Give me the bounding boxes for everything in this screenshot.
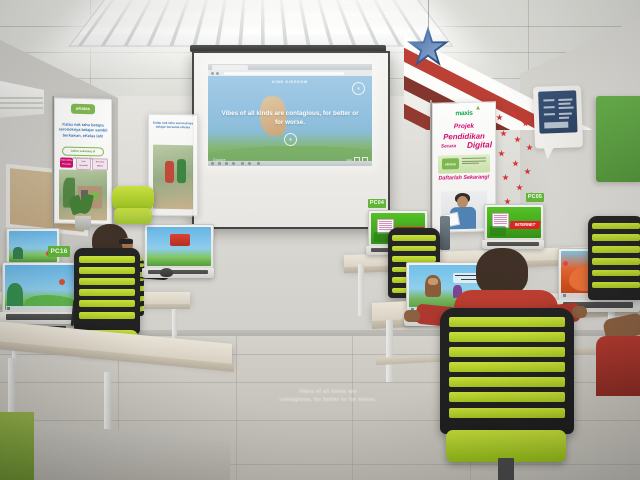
banner-chip-1: Kelas Online Percuma <box>60 157 73 167</box>
laptop-screen <box>5 265 75 310</box>
ekelas-logo: eKelas <box>71 104 95 115</box>
potted-plant <box>68 196 98 230</box>
chair-backrest <box>74 248 140 334</box>
projected-browser-window: KIND KINGDOM Vibes of all kinds are cont… <box>208 64 372 166</box>
chair-post <box>498 458 514 480</box>
laptop-screen: INTERNET <box>487 207 541 238</box>
chair-lime-left[interactable] <box>112 186 156 246</box>
maxis-cta: Daftarlah Sekarang! <box>436 174 492 181</box>
green-floor-mat <box>0 412 34 480</box>
desk-leg <box>104 372 111 438</box>
banner-headline: Kalau nak tahu betapa seronoknya belajar… <box>58 121 108 138</box>
site-title: KIND KINGDOM <box>208 80 372 84</box>
floor-reflection-line-2: contagious, for better or for worse. <box>238 396 418 404</box>
mouse[interactable] <box>160 268 173 277</box>
student-head <box>476 248 528 296</box>
projection-floor-reflection: Vibes of all kinds are contagious, for b… <box>238 388 418 422</box>
student-far-right <box>596 316 640 396</box>
pc-label-pc04: PC04 <box>368 199 386 208</box>
laptop-pc16[interactable]: PC16 <box>0 262 78 328</box>
chair-seat <box>112 186 154 210</box>
pause-icon[interactable]: ⏸ <box>352 82 365 95</box>
chair-far-right[interactable] <box>588 216 640 322</box>
maxis-box-note <box>462 157 486 165</box>
fluorescent-light-panel <box>68 0 453 47</box>
internet-badge: INTERNET <box>509 221 540 229</box>
floor-reflection-line-1: Vibes of all kinds are <box>238 388 418 396</box>
maxis-program-box: eKelas <box>438 154 490 173</box>
banner-secondary-headline: Kalau nak tahu seronoknya belajar bersam… <box>152 121 194 131</box>
os-taskbar[interactable] <box>208 161 372 166</box>
desk-leg <box>358 264 364 316</box>
blue-paper-star-ornament <box>406 26 450 70</box>
banner-chip-3: Bersama Rakan <box>92 158 108 170</box>
chair-right-front[interactable] <box>440 308 586 480</box>
kind-kingdom-page: KIND KINGDOM Vibes of all kinds are cont… <box>208 76 372 166</box>
ekelas-badge: eKelas <box>442 158 459 169</box>
projected-headline: Vibes of all kinds are contagious, for b… <box>220 109 360 127</box>
chair-backrest <box>440 308 574 434</box>
laptop-screen <box>147 227 211 266</box>
student-torso <box>596 336 640 396</box>
desk-leg <box>8 358 15 416</box>
ornament-string <box>428 0 429 28</box>
desk-leg <box>386 320 393 382</box>
chair-backrest <box>588 216 640 300</box>
laptop-pc05[interactable]: INTERNET PC05 <box>482 204 544 252</box>
maxis-mark <box>476 106 480 110</box>
play-icon[interactable]: ⏸ <box>284 133 297 146</box>
pc-label-pc05: PC05 <box>526 193 544 202</box>
green-wall-board <box>596 96 640 182</box>
banner-cta: Daftar sekarang di ekelas.com.my <box>62 146 104 156</box>
pc-label-pc16: PC16 <box>48 246 70 257</box>
maxis-line-1: Projek <box>436 122 492 130</box>
student-hand-left <box>404 310 420 322</box>
banner-chip-2: Sesi Interaktif <box>76 158 91 170</box>
maxis-line-4: Digital <box>436 140 497 150</box>
speech-bubble-poster <box>533 85 583 149</box>
maxis-logo: maxis <box>455 110 472 117</box>
projector-screen: KIND KINGDOM Vibes of all kinds are cont… <box>192 51 390 229</box>
classroom-photo: KIND KINGDOM Vibes of all kinds are cont… <box>0 0 640 480</box>
red-device <box>170 234 190 246</box>
chair-cushion <box>114 208 152 224</box>
